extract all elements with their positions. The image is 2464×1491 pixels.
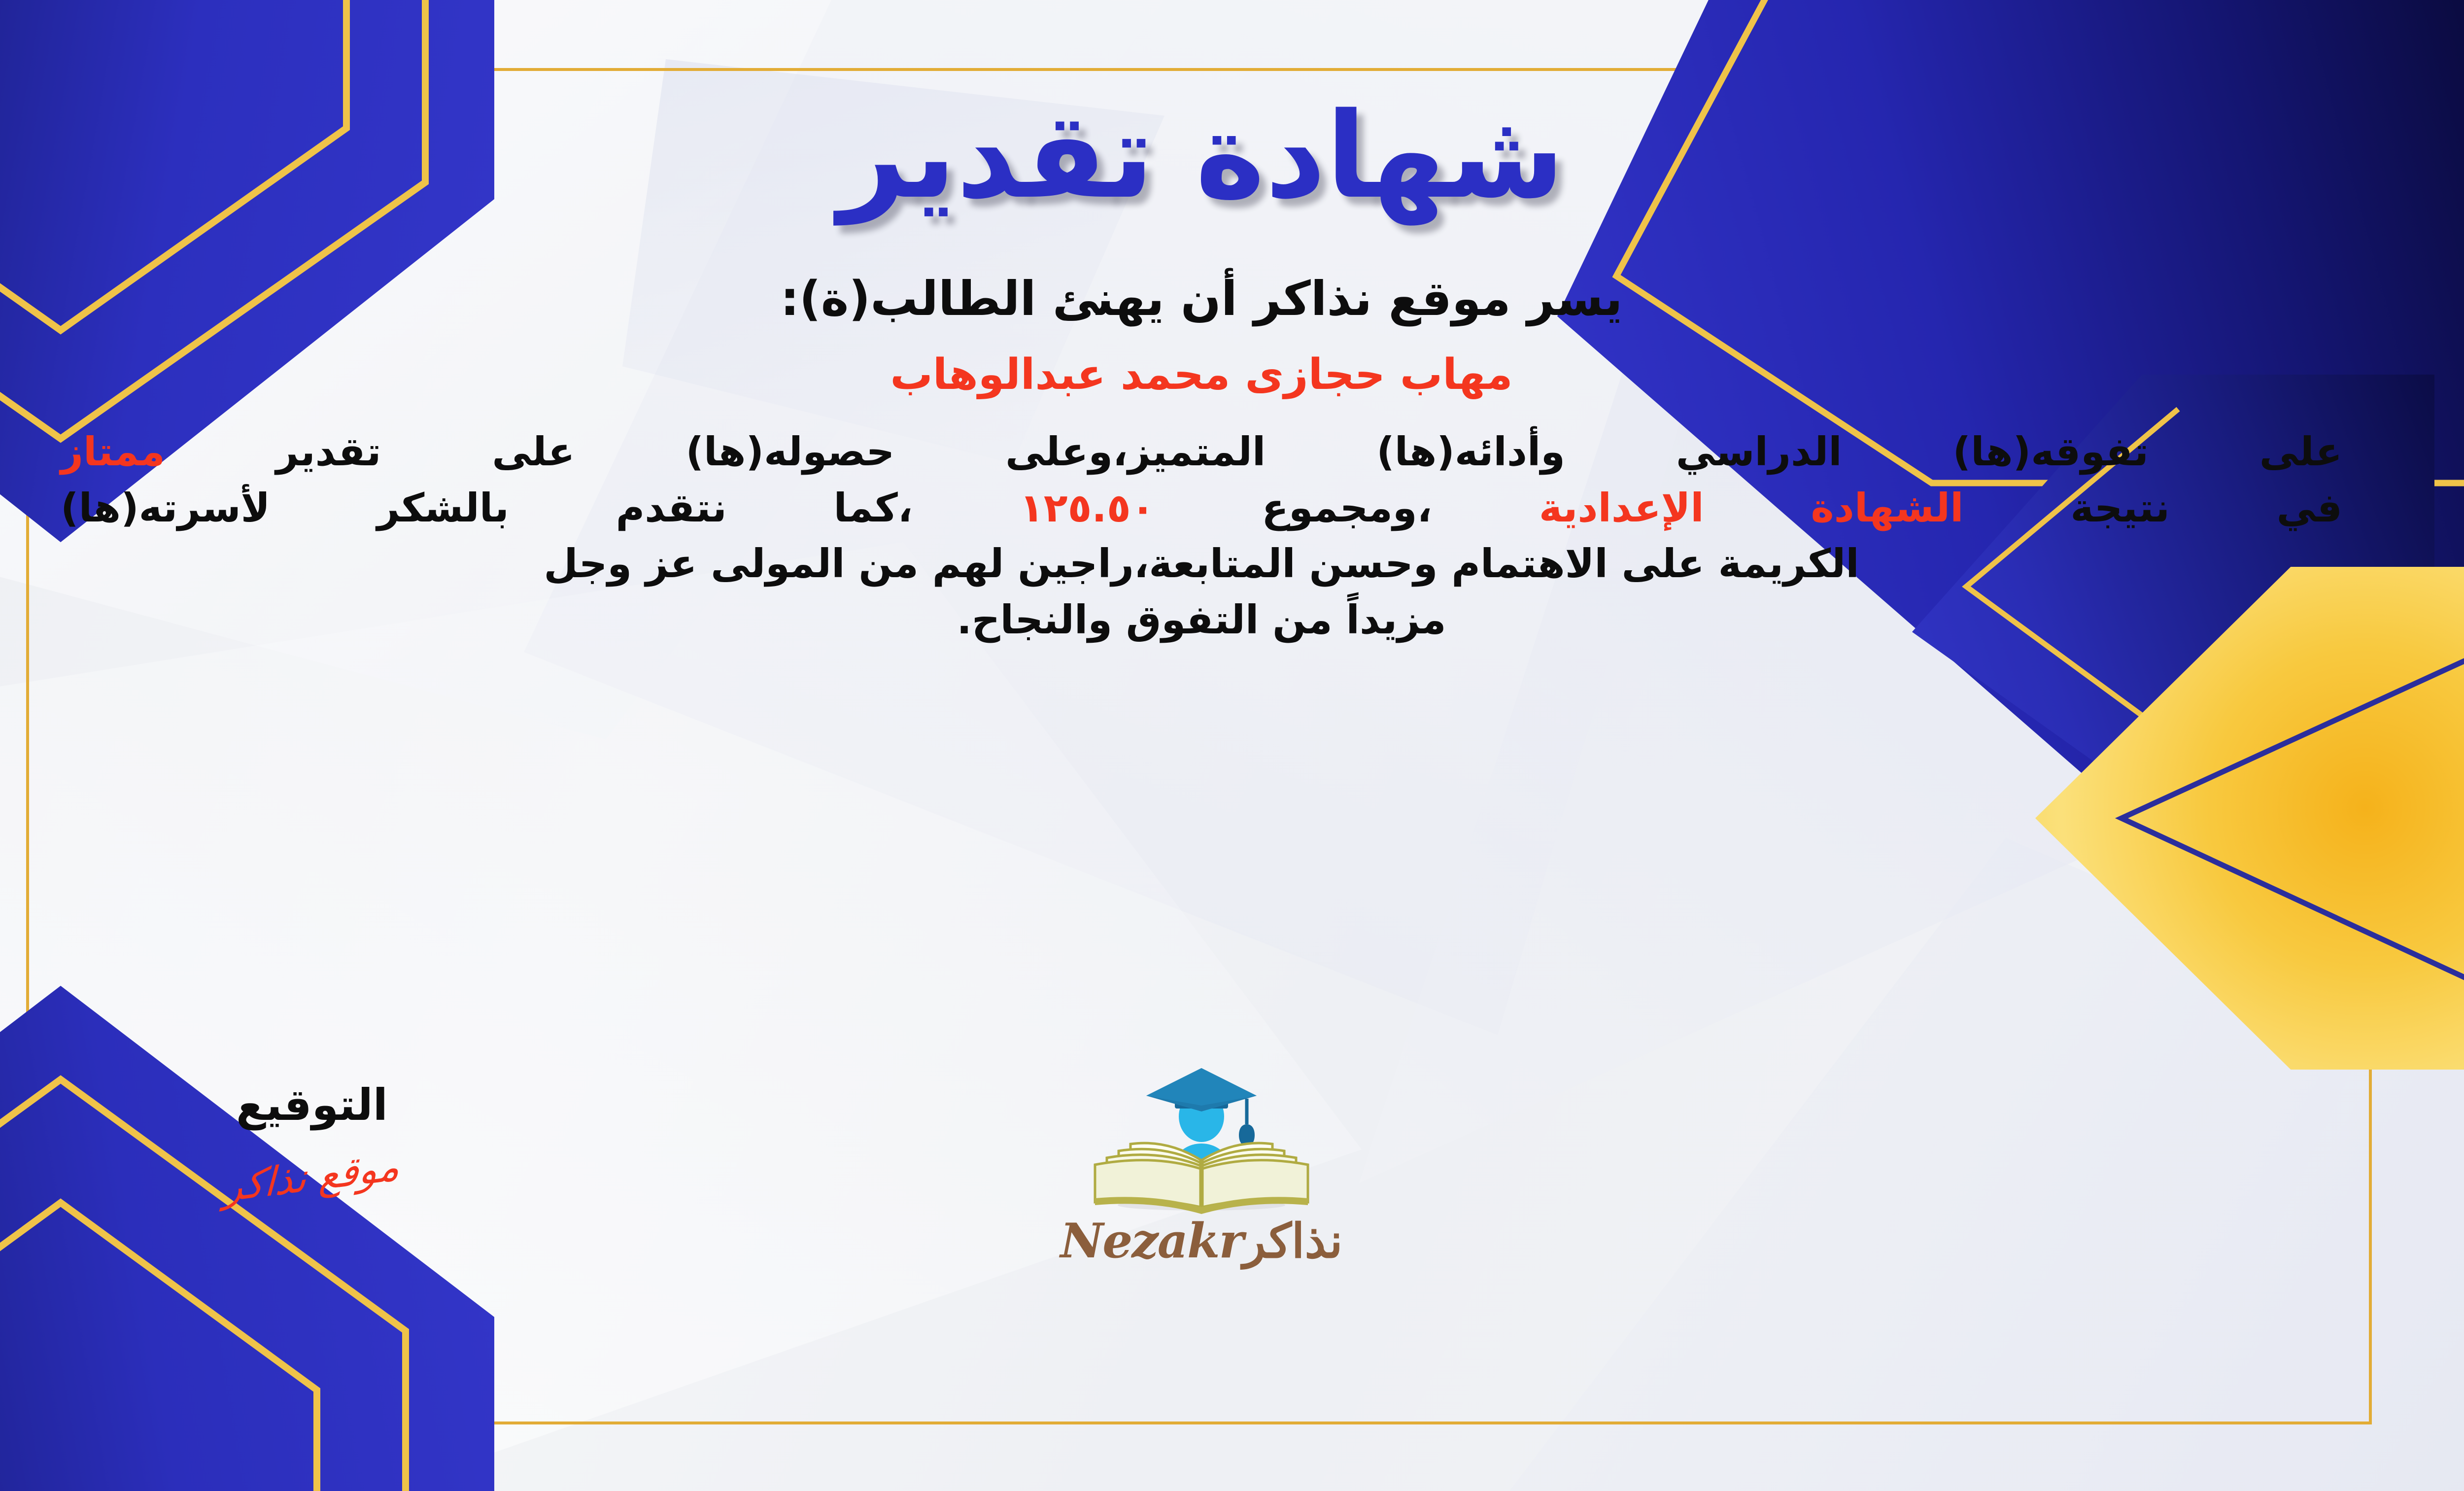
logo-arabic-text: نذاكر: [1243, 1213, 1342, 1269]
body-line-1: على تفوقه(ها) الدراسي وأدائه(ها) المتميز…: [61, 424, 2342, 480]
body-line-2-prefix: في نتيجة: [2070, 485, 2342, 531]
signature-handwritten: موقع نذاكر: [223, 1143, 401, 1211]
logo-wordmark: نذاكرNezakr: [1014, 1213, 1389, 1269]
body-line-2: في نتيجة الشهادة الإعدادية ،ومجموع ١٢٥.٥…: [61, 480, 2342, 536]
signature-block: التوقيع موقع نذاكر: [135, 1079, 489, 1200]
certificate-body: على تفوقه(ها) الدراسي وأدائه(ها) المتميز…: [61, 424, 2342, 648]
student-name: مهاب حجازى محمد عبدالوهاب: [46, 350, 2357, 399]
grade-value: ممتاز: [61, 429, 165, 475]
certificate-content: شهادة تقدير يسر موقع نذاكر أن يهنئ الطال…: [46, 79, 2357, 1420]
graduate-book-icon: [1073, 1057, 1330, 1220]
signature-label: التوقيع: [135, 1079, 489, 1130]
total-score: ١٢٥.٥٠: [1020, 485, 1155, 531]
certificate-title: شهادة تقدير: [46, 94, 2357, 218]
body-line-3: الكريمة على الاهتمام وحسن المتابعة،راجين…: [61, 536, 2342, 592]
brand-logo: نذاكرNezakr: [1014, 1057, 1389, 1269]
body-line-1-text: على تفوقه(ها) الدراسي وأدائه(ها) المتميز…: [276, 429, 2342, 475]
logo-latin-text: Nezakr: [1060, 1213, 1243, 1269]
exam-name: الشهادة الإعدادية: [1539, 485, 1964, 531]
body-line-2-suffix: ،كما نتقدم بالشكر لأسرته(ها): [61, 485, 913, 531]
congratulation-intro: يسر موقع نذاكر أن يهنئ الطالب(ة):: [46, 271, 2357, 326]
body-line-4: مزيداً من التفوق والنجاح.: [61, 592, 2342, 648]
certificate-page: شهادة تقدير يسر موقع نذاكر أن يهنئ الطال…: [0, 0, 2464, 1491]
body-line-2-middle: ،ومجموع: [1262, 485, 1432, 531]
